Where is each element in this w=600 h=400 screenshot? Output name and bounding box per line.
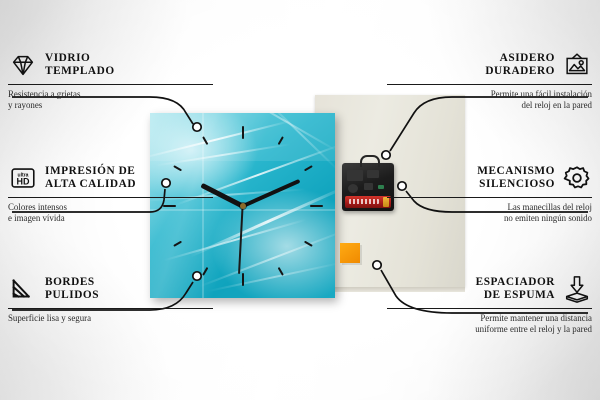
divider	[8, 84, 213, 85]
feature-header: MECANISMO SILENCIOSO	[387, 163, 592, 193]
feature-vidrio-templado: VIDRIO TEMPLADO Resistencia a grietas y …	[8, 50, 213, 111]
feature-header: ultra HD IMPRESIÓN DE ALTA CALIDAD	[8, 163, 213, 193]
callout-dot-vidrio-templado	[193, 123, 201, 131]
polished-edges-icon	[8, 274, 38, 304]
callout-dot-asidero	[382, 151, 390, 159]
divider	[387, 308, 592, 309]
feature-title: ASIDERO DURADERO	[485, 52, 555, 78]
infographic-canvas: VIDRIO TEMPLADO Resistencia a grietas y …	[0, 0, 600, 400]
feature-title: IMPRESIÓN DE ALTA CALIDAD	[45, 165, 136, 191]
feature-mecanismo-silencioso: MECANISMO SILENCIOSO Las manecillas del …	[387, 163, 592, 224]
feature-header: ASIDERO DURADERO	[387, 50, 592, 80]
divider	[387, 197, 592, 198]
feature-impresion-alta-calidad: ultra HD IMPRESIÓN DE ALTA CALIDAD Color…	[8, 163, 213, 224]
feature-title: BORDES PULIDOS	[45, 276, 99, 302]
divider	[8, 308, 213, 309]
divider	[8, 197, 213, 198]
feature-header: ESPACIADOR DE ESPUMA	[387, 274, 592, 304]
feature-espaciador-de-espuma: ESPACIADOR DE ESPUMA Permite mantener un…	[387, 274, 592, 335]
diamond-icon	[8, 50, 38, 80]
callout-dot-espaciador	[373, 261, 381, 269]
foam-spacer-arrow-icon	[562, 274, 592, 304]
feature-title: VIDRIO TEMPLADO	[45, 52, 115, 78]
feature-asidero-duradero: ASIDERO DURADERO Permite una fácil insta…	[387, 50, 592, 111]
feature-bordes-pulidos: BORDES PULIDOS Superficie lisa y segura	[8, 274, 213, 324]
feature-title: ESPACIADOR DE ESPUMA	[476, 276, 555, 302]
svg-text:HD: HD	[17, 177, 30, 187]
feature-header: VIDRIO TEMPLADO	[8, 50, 213, 80]
ultra-hd-icon: ultra HD	[8, 163, 38, 193]
gear-icon	[562, 163, 592, 193]
picture-frame-hanger-icon	[562, 50, 592, 80]
feature-header: BORDES PULIDOS	[8, 274, 213, 304]
divider	[387, 84, 592, 85]
feature-title: MECANISMO SILENCIOSO	[477, 165, 555, 191]
